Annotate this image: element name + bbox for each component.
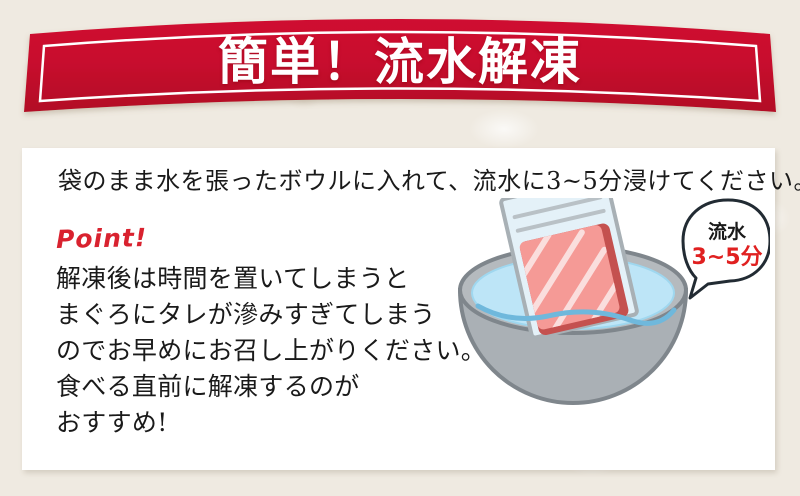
content-card: 袋のまま水を張ったボウルに入れて、流水に3~5分浸けてください。 Point! … — [22, 148, 775, 470]
point-line-4: 食べる直前に解凍するのが — [56, 369, 456, 405]
speech-bubble-line-1: 流水 — [708, 220, 747, 243]
speech-bubble: 流水 3~5分 — [683, 200, 770, 298]
point-line-2: まぐろにタレが滲みすぎてしまう — [56, 297, 456, 333]
point-line-3: のでお早めにお召し上がりください。 — [56, 333, 456, 369]
speech-bubble-line-2: 3~5分 — [691, 245, 762, 270]
point-body-text: 解凍後は時間を置いてしまうと まぐろにタレが滲みすぎてしまう のでお早めにお召し… — [56, 261, 456, 441]
thawing-illustration: 流水 3~5分 — [440, 198, 770, 460]
instruction-lead-text: 袋のまま水を張ったボウルに入れて、流水に3~5分浸けてください。 — [58, 164, 748, 198]
title-banner: 簡単！流水解凍 — [0, 6, 800, 142]
point-line-1: 解凍後は時間を置いてしまうと — [56, 261, 456, 297]
point-label: Point! — [56, 223, 148, 254]
illustration-svg: 流水 3~5分 — [440, 198, 770, 460]
page-title: 簡単！流水解凍 — [0, 32, 800, 92]
point-line-5: おすすめ! — [56, 405, 456, 441]
poster-root: 簡単！流水解凍 袋のまま水を張ったボウルに入れて、流水に3~5分浸けてください。… — [0, 0, 800, 496]
